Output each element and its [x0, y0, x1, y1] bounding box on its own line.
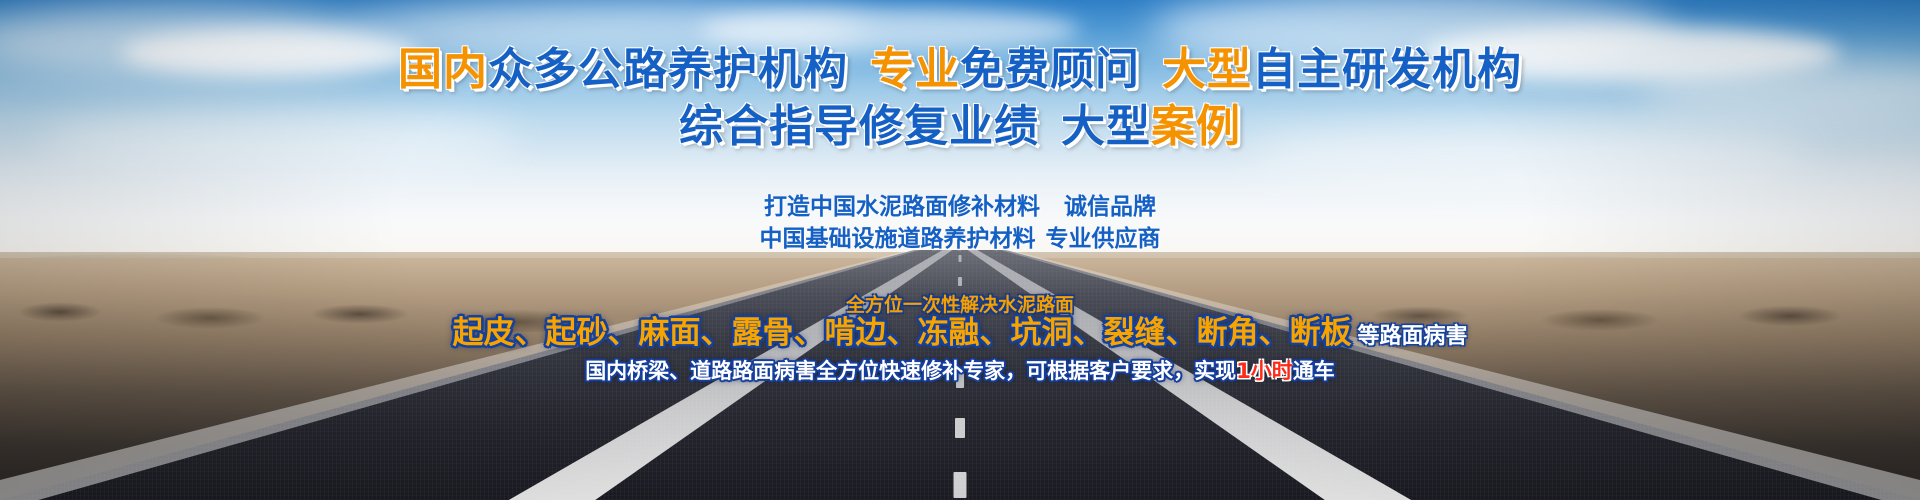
footer-text-part2: 通车: [1293, 359, 1335, 383]
disease-suffix-text: 等路面病害: [1357, 324, 1467, 349]
subtitle-line-1: 打造中国水泥路面修补材料诚信品牌: [0, 192, 1920, 222]
footer-text-part1: 国内桥梁、道路路面病害全方位快速修补专家，可根据客户要求，实现: [585, 359, 1236, 383]
footer-highlight-text: 1小时: [1236, 359, 1293, 383]
banner-text-layer: 国内众多公路养护机构专业免费顾问大型自主研发机构 综合指导修复业绩大型案例 打造…: [0, 0, 1920, 500]
headline-segment: 大型: [1061, 101, 1151, 152]
headline-segment: 自主研发机构: [1252, 44, 1522, 95]
headline-segment: 案例: [1151, 101, 1241, 152]
headline-line-1: 国内众多公路养护机构专业免费顾问大型自主研发机构: [0, 44, 1920, 96]
headline-segment: 大型: [1162, 44, 1252, 95]
headline-segment: 专业: [870, 44, 960, 95]
subtitle-tag-text: 专业供应商: [1046, 226, 1161, 252]
subtitle-main-text: 打造中国水泥路面修补材料: [764, 194, 1040, 220]
disease-list-line: 起皮、起砂、麻面、露骨、啃边、冻融、坑洞、裂缝、断角、断板等路面病害: [0, 313, 1920, 358]
promo-banner: 国内众多公路养护机构专业免费顾问大型自主研发机构 综合指导修复业绩大型案例 打造…: [0, 0, 1920, 500]
subtitle-line-2: 中国基础设施道路养护材料专业供应商: [0, 224, 1920, 254]
headline-segment: 免费顾问: [960, 44, 1140, 95]
headline-segment: 国内: [398, 44, 488, 95]
headline-segment: 综合指导修复业绩: [679, 101, 1039, 152]
headline-line-2: 综合指导修复业绩大型案例: [0, 101, 1920, 153]
subtitle-main-text: 中国基础设施道路养护材料: [760, 226, 1036, 252]
footer-line: 国内桥梁、道路路面病害全方位快速修补专家，可根据客户要求，实现1小时通车: [0, 357, 1920, 385]
subtitle-tag-text: 诚信品牌: [1064, 194, 1156, 220]
disease-list-text: 起皮、起砂、麻面、露骨、啃边、冻融、坑洞、裂缝、断角、断板: [452, 315, 1351, 351]
headline-segment: 众多公路养护机构: [488, 44, 848, 95]
